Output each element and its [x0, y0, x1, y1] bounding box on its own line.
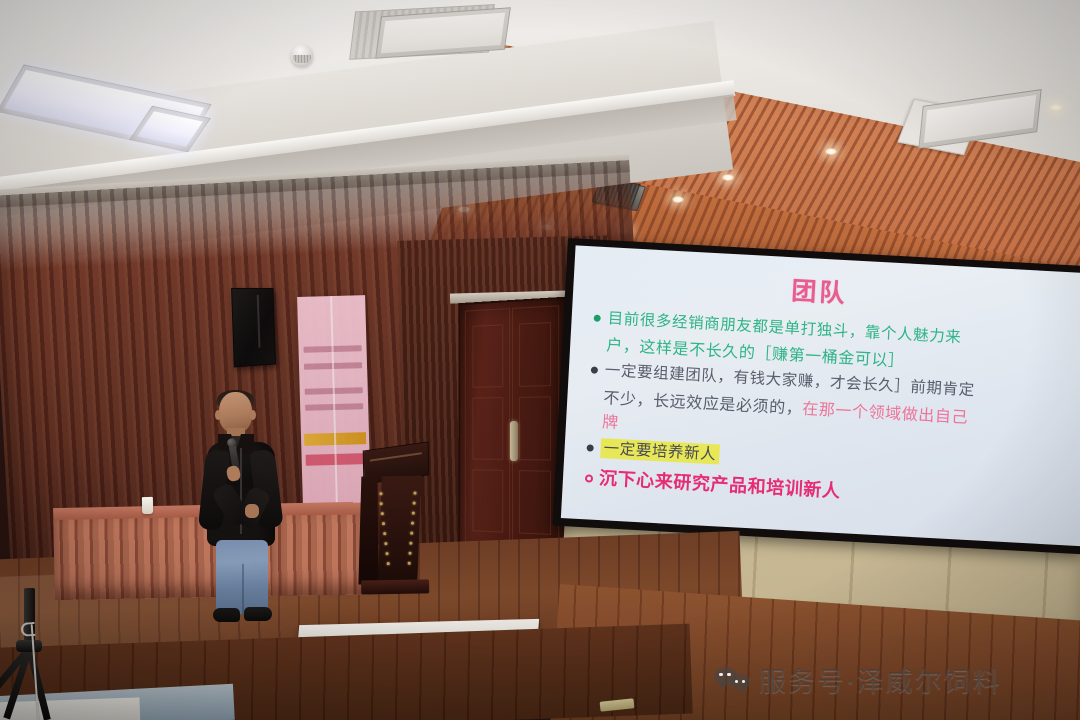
wall-speaker — [231, 288, 276, 368]
slide-bullet-list: 目前很多经销商朋友都是单打独斗，靠个人魅力来 户，这样是不长久的［赚第一桶金可以… — [580, 306, 1080, 524]
presenter-ear — [250, 410, 256, 420]
bullet-dot-icon — [594, 315, 601, 322]
downlight-icon — [672, 196, 684, 203]
presenter-ear — [215, 410, 221, 420]
presenter-shoe-left — [213, 608, 240, 622]
podium — [355, 445, 432, 598]
screen-surface: 团队 目前很多经销商朋友都是单打独斗，靠个人魅力来 户，这样是不长久的［赚第一桶… — [561, 245, 1080, 546]
projection-screen: 团队 目前很多经销商朋友都是单打独斗，靠个人魅力来 户，这样是不长久的［赚第一桶… — [552, 238, 1080, 554]
bullet-4-line-1: 沉下心来研究产品和培训新人 — [598, 468, 841, 502]
bullet-dot-icon — [591, 367, 598, 374]
bullet-3-line-1: 一定要培养新人 — [600, 438, 720, 464]
wooden-door[interactable] — [458, 297, 566, 566]
bullet-hollow-dot-icon — [585, 475, 593, 483]
presenter-hand-right — [245, 504, 259, 518]
bullet-dot-icon — [586, 444, 593, 451]
paper-cup — [142, 497, 153, 514]
downlight-icon — [1050, 104, 1062, 111]
presenter — [190, 392, 290, 636]
presenter-head — [219, 392, 252, 433]
downlight-icon — [722, 174, 734, 181]
photo-scene: 团队 目前很多经销商朋友都是单打独斗，靠个人魅力来 户，这样是不长久的［赚第一桶… — [0, 0, 1080, 720]
presenter-shoe-right — [244, 607, 272, 621]
presenter-jeans — [216, 540, 268, 614]
tripod-stand — [0, 588, 84, 720]
smoke-detector-icon — [291, 44, 313, 66]
door-handle-icon[interactable] — [510, 421, 518, 461]
downlight-icon — [825, 148, 837, 155]
